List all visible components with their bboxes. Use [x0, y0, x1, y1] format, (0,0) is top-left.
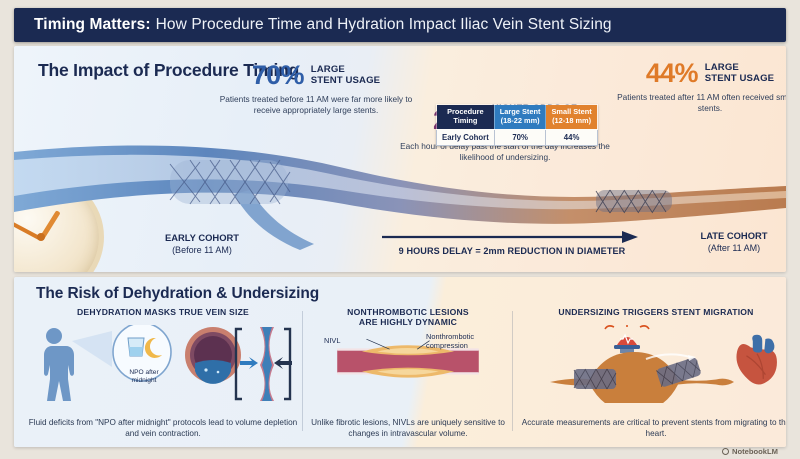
stent-migration-illustration [518, 325, 786, 403]
stat-early-label-line2: STENT USAGE [311, 75, 380, 86]
bottom-column-dehydration: DEHYDRATION MASKS TRUE VEIN SIZE [28, 307, 298, 443]
bottom-panel: The Risk of Dehydration & Undersizing DE… [14, 277, 786, 447]
water-glass-icon [128, 338, 144, 356]
notebooklm-label: NotebookLM [732, 447, 778, 456]
nivl-annotation: NIVL [324, 337, 340, 346]
label-late-cohort: LATE COHORT (After 11 AM) [676, 230, 792, 255]
page-title-bar: Timing Matters: How Procedure Time and H… [14, 8, 786, 42]
column-2-heading: NONTHROMBOTIC LESIONS ARE HIGHLY DYNAMIC [308, 307, 508, 328]
table-row: Early Cohort 70% 44% [437, 129, 598, 145]
table-header-small-l1: Small Stent [551, 107, 591, 116]
column-3-heading: UNDERSIZING TRIGGERS STENT MIGRATION [518, 307, 786, 317]
heart-icon [736, 335, 776, 385]
column-1-heading: DEHYDRATION MASKS TRUE VEIN SIZE [28, 307, 298, 317]
table-header-timing-l2: Timing [453, 116, 477, 125]
notebooklm-icon [722, 448, 729, 455]
column-2-heading-l2: ARE HIGHLY DYNAMIC [359, 317, 457, 327]
table-header-timing-l1: Procedure [447, 107, 484, 116]
human-body-icon [42, 328, 74, 401]
npo-label-line1: NPO after [129, 369, 158, 376]
table-cell-small-stent: 44% [546, 129, 597, 145]
stent-comparison-table: Procedure Timing Large Stent (18-22 mm) … [436, 104, 598, 146]
page-title-strong: Timing Matters: [34, 16, 151, 34]
table-header-large-stent: Large Stent (18-22 mm) [494, 105, 546, 130]
notebooklm-watermark: NotebookLM [722, 447, 778, 456]
delay-note: 9 HOURS DELAY = 2mm REDUCTION IN DIAMETE… [374, 246, 650, 256]
table-cell-cohort: Early Cohort [437, 129, 495, 145]
alarm-icon [605, 325, 649, 353]
stat-late-value: 44% [646, 60, 698, 87]
stat-early-value: 70% [252, 62, 304, 89]
stat-early-label: LARGE STENT USAGE [311, 65, 380, 86]
column-1-caption: Fluid deficits from "NPO after midnight"… [28, 417, 298, 439]
label-late-cohort-detail: (After 11 AM) [708, 243, 760, 253]
table-header-large-l2: (18-22 mm) [501, 116, 540, 125]
npo-inline-label: NPO after midnight [116, 369, 172, 384]
dehydration-illustration [28, 325, 298, 403]
table-header-row: Procedure Timing Large Stent (18-22 mm) … [437, 105, 598, 130]
nonthrombotic-annotation: Nonthrombotic compression [426, 333, 474, 351]
stat-late-label: LARGE STENT USAGE [705, 63, 774, 84]
column-3-caption: Accurate measurements are critical to pr… [518, 417, 786, 439]
infographic-root: Timing Matters: How Procedure Time and H… [0, 0, 800, 459]
column-divider-1 [302, 311, 303, 431]
nonthrombotic-annotation-l2: compression [426, 341, 468, 350]
bottom-column-nivl: NONTHROMBOTIC LESIONS ARE HIGHLY DYNAMIC… [308, 307, 508, 443]
column-2-caption: Unlike fibrotic lesions, NIVLs are uniqu… [308, 417, 508, 439]
nonthrombotic-annotation-l1: Nonthrombotic [426, 332, 474, 341]
vein-cross-section [185, 327, 241, 384]
table-header-small-stent: Small Stent (12-18 mm) [546, 105, 597, 130]
section-heading-bottom: The Risk of Dehydration & Undersizing [36, 285, 319, 303]
stat-late-label-line1: LARGE [705, 62, 739, 73]
direction-arrow-icon [380, 228, 644, 244]
label-early-cohort: EARLY COHORT (Before 11 AM) [140, 232, 264, 257]
stat-late-description: Patients treated after 11 AM often recei… [612, 92, 786, 114]
label-early-cohort-detail: (Before 11 AM) [172, 245, 232, 255]
table-header-large-l1: Large Stent [500, 107, 541, 116]
stent-in-position [574, 369, 616, 389]
table-header-timing: Procedure Timing [437, 105, 495, 130]
table-header-small-l2: (12-18 mm) [552, 116, 591, 125]
stat-early-label-line1: LARGE [311, 64, 345, 75]
small-stent-mesh [596, 190, 672, 213]
compressed-vein [236, 327, 292, 401]
stat-late-large-stent: 44% LARGE STENT USAGE Patients treated a… [612, 60, 786, 114]
column-2-heading-l1: NONTHROMBOTIC LESIONS [347, 307, 469, 317]
npo-label-line2: midnight [132, 377, 157, 384]
stat-late-label-line2: STENT USAGE [705, 73, 774, 84]
label-early-cohort-name: EARLY COHORT [165, 232, 239, 243]
stat-early-large-stent: 70% LARGE STENT USAGE Patients treated b… [210, 62, 422, 116]
large-stent-mesh [170, 160, 290, 204]
bottom-column-migration: UNDERSIZING TRIGGERS STENT MIGRATION [518, 307, 786, 443]
label-late-cohort-name: LATE COHORT [700, 230, 767, 241]
page-title-rest: How Procedure Time and Hydration Impact … [156, 16, 612, 34]
stat-early-description: Patients treated before 11 AM were far m… [210, 94, 422, 116]
column-divider-2 [512, 311, 513, 431]
table-cell-large-stent: 70% [494, 129, 546, 145]
